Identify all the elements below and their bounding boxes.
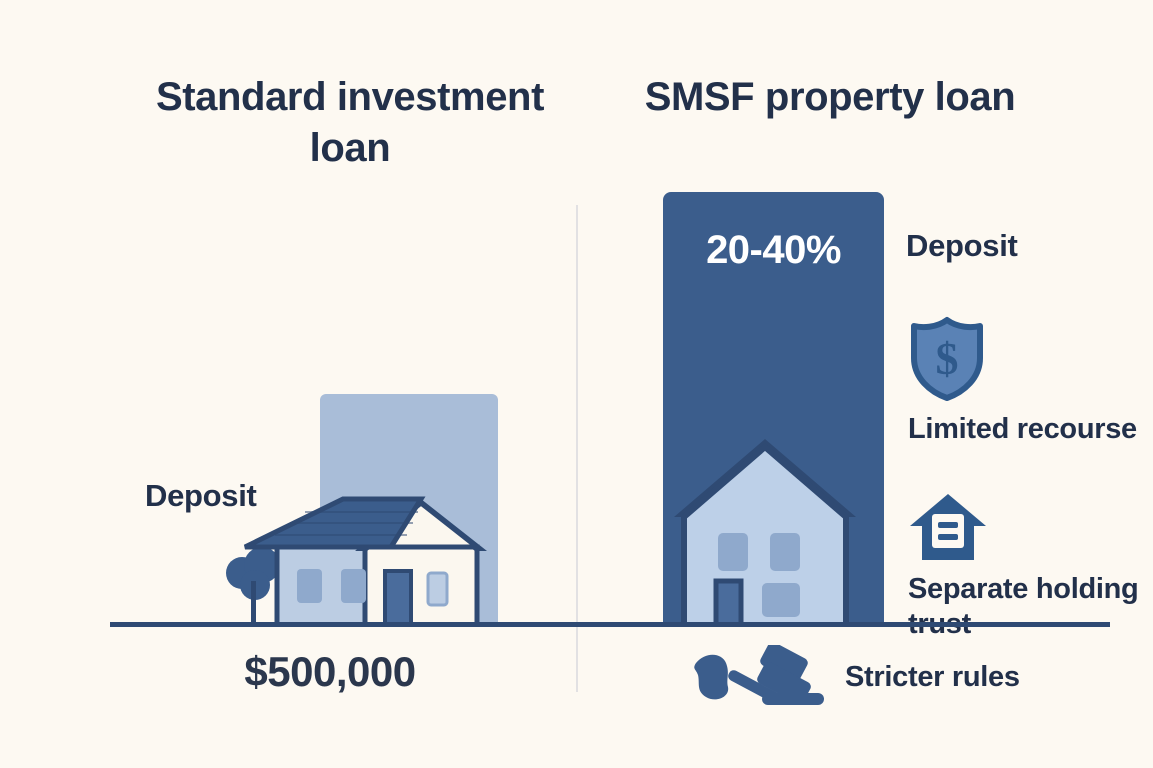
tree-icon: [226, 547, 280, 625]
svg-text:$: $: [936, 333, 959, 384]
smsf-deposit-percentage: 20-40%: [663, 228, 884, 273]
bank-house-document-icon: [908, 492, 988, 562]
standard-deposit-label: Deposit: [145, 478, 257, 514]
left-panel-title: Standard investment loan: [115, 72, 585, 174]
feature-label-separate-holding-trust: Separate holding trust: [908, 572, 1148, 643]
feature-label-limited-recourse: Limited recourse: [908, 412, 1148, 447]
gavel-icon: [688, 645, 838, 707]
ground-baseline: [110, 622, 1110, 627]
smsf-deposit-label: Deposit: [906, 228, 1018, 264]
feature-label-stricter-rules: Stricter rules: [845, 660, 1095, 695]
panel-divider: [576, 205, 578, 692]
shield-dollar-icon: $: [908, 316, 986, 402]
infographic-canvas: Standard investment loan SMSF property l…: [0, 0, 1153, 768]
standard-loan-amount: $500,000: [180, 648, 480, 696]
house-silhouette-icon: [670, 433, 860, 625]
right-panel-title: SMSF property loan: [640, 72, 1020, 123]
house-with-tree-icon: [225, 485, 510, 627]
